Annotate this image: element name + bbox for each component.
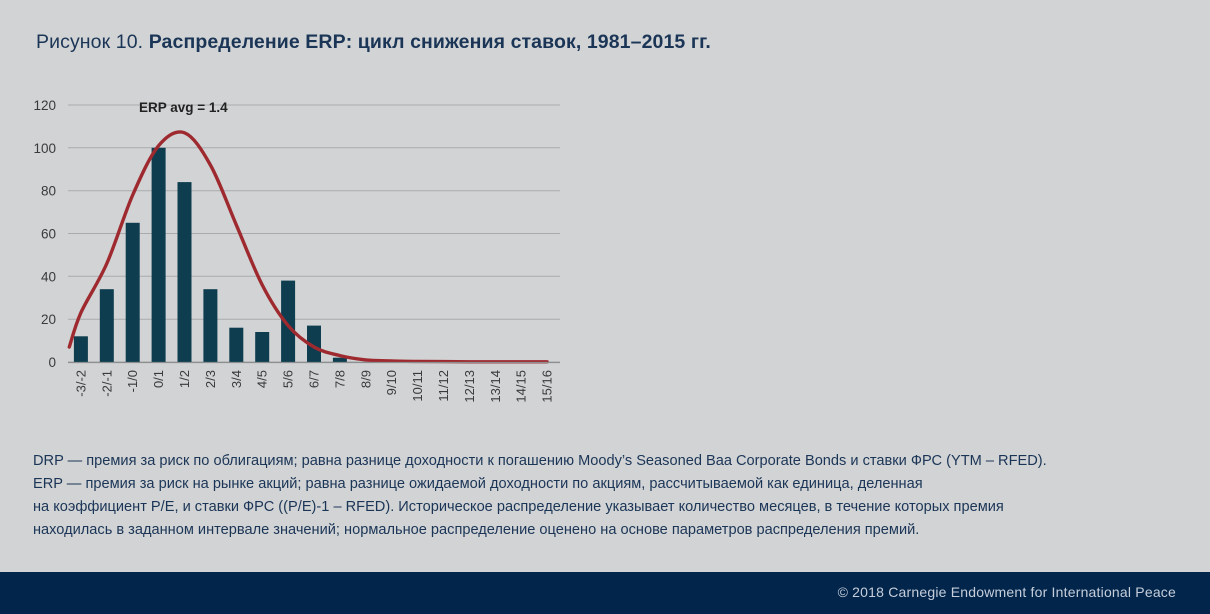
note-line-2: ERP — премия за риск на рынке акций; рав… <box>33 473 1183 496</box>
bar <box>152 148 166 362</box>
chart-plot-area: 020406080100120 -3/-2-2/-1-1/00/11/22/33… <box>0 90 700 430</box>
x-axis-tick-label: 10/11 <box>410 370 425 402</box>
x-axis-tick-labels: -3/-2-2/-1-1/00/11/22/33/44/55/66/77/88/… <box>73 370 554 403</box>
y-axis-tick-label: 120 <box>33 98 56 113</box>
x-axis-tick-label: 3/4 <box>229 370 244 388</box>
bar <box>229 328 243 362</box>
page-title: Рисунок 10. Распределение ERP: цикл сниж… <box>36 31 711 54</box>
y-axis-tick-label: 20 <box>41 312 56 327</box>
y-axis-tick-label: 100 <box>33 141 56 156</box>
note-line-4: находилась в заданном интервале значений… <box>33 519 1183 542</box>
bar <box>178 182 192 362</box>
bar <box>74 336 88 362</box>
figure-container: Рисунок 10. Распределение ERP: цикл сниж… <box>0 0 1210 614</box>
distribution-chart: 020406080100120 -3/-2-2/-1-1/00/11/22/33… <box>0 90 700 430</box>
x-axis-tick-label: -2/-1 <box>99 370 114 397</box>
bar <box>126 223 140 362</box>
figure-number-label: Рисунок 10. <box>36 31 143 53</box>
x-axis-tick-label: 14/15 <box>514 370 529 403</box>
note-line-1: DRP — премия за риск по облигациям; равн… <box>33 450 1183 473</box>
x-axis-tick-label: 7/8 <box>332 370 347 388</box>
x-axis-tick-label: 1/2 <box>177 370 192 388</box>
y-axis-tick-label: 40 <box>41 269 56 284</box>
y-axis-tick-label: 80 <box>41 184 56 199</box>
x-axis-tick-label: 11/12 <box>436 370 451 402</box>
x-axis-tick-label: 9/10 <box>384 370 399 395</box>
footer-copyright: © 2018 Carnegie Endowment for Internatio… <box>838 584 1176 600</box>
x-axis-tick-label: -3/-2 <box>73 370 88 397</box>
figure-headline: Распределение ERP: цикл снижения ставок,… <box>149 31 711 53</box>
x-axis-tick-label: 15/16 <box>540 370 555 403</box>
note-line-3: на коэффициент P/E, и ставки ФРС ((P/E)-… <box>33 496 1183 519</box>
bar <box>255 332 269 362</box>
x-axis-tick-label: 0/1 <box>151 370 166 388</box>
bar <box>100 289 114 362</box>
footer-bar: © 2018 Carnegie Endowment for Internatio… <box>0 572 1210 614</box>
x-axis-tick-label: 5/6 <box>281 370 296 388</box>
x-axis-tick-label: 2/3 <box>203 370 218 388</box>
bar-series <box>74 148 347 362</box>
x-axis-tick-label: 4/5 <box>255 370 270 388</box>
x-axis-tick-label: 12/13 <box>462 370 477 403</box>
erp-average-annotation: ERP avg = 1.4 <box>139 100 228 115</box>
y-axis-tick-label: 0 <box>48 355 56 370</box>
x-axis-tick-label: 6/7 <box>307 370 322 388</box>
y-axis-tick-labels: 020406080100120 <box>33 98 56 370</box>
bar <box>203 289 217 362</box>
x-axis-tick-label: 13/14 <box>488 370 503 403</box>
chart-notes: DRP — премия за риск по облигациям; равн… <box>33 450 1183 542</box>
y-axis-tick-label: 60 <box>41 227 56 242</box>
x-axis-tick-label: -1/0 <box>125 370 140 392</box>
x-axis-tick-label: 8/9 <box>358 370 373 388</box>
gridlines <box>68 105 560 362</box>
